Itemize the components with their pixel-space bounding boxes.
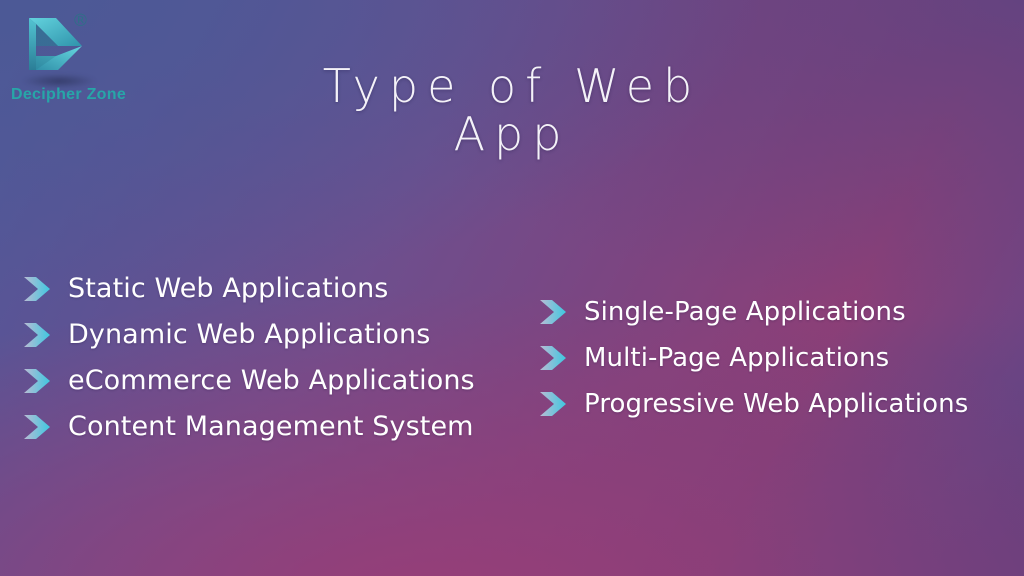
list-item: Static Web Applications bbox=[22, 266, 475, 312]
list-item: Progressive Web Applications bbox=[538, 381, 968, 427]
list-item: Content Management System bbox=[22, 404, 475, 450]
chevron-right-icon bbox=[22, 367, 52, 395]
list-item-label: Single-Page Applications bbox=[584, 297, 906, 327]
brand-wordmark: Decipher Zone bbox=[11, 86, 126, 104]
registered-trademark-icon: ® bbox=[72, 13, 89, 30]
web-app-type-list-right: Single-Page Applications Multi-Page Appl… bbox=[538, 289, 968, 427]
chevron-right-icon bbox=[538, 344, 568, 372]
chevron-right-icon bbox=[538, 390, 568, 418]
list-item: Multi-Page Applications bbox=[538, 335, 968, 381]
brand-logo-block: ® Decipher Zone bbox=[8, 8, 128, 108]
page-title-line2: App bbox=[262, 110, 762, 158]
chevron-right-icon bbox=[22, 275, 52, 303]
list-item-label: eCommerce Web Applications bbox=[68, 366, 475, 396]
page-title-line1: Type of Web bbox=[262, 62, 762, 110]
page-title: Type of Web App bbox=[262, 62, 762, 158]
chevron-right-icon bbox=[22, 321, 52, 349]
list-item-label: Multi-Page Applications bbox=[584, 343, 889, 373]
list-item-label: Static Web Applications bbox=[68, 274, 388, 304]
list-item-label: Dynamic Web Applications bbox=[68, 320, 430, 350]
list-item-label: Content Management System bbox=[68, 412, 474, 442]
chevron-right-icon bbox=[22, 413, 52, 441]
slide-canvas: ® Decipher Zone Type of Web App Static W… bbox=[0, 0, 1024, 576]
chevron-right-icon bbox=[538, 298, 568, 326]
list-item: Single-Page Applications bbox=[538, 289, 968, 335]
web-app-type-list-left: Static Web Applications Dynamic Web Appl… bbox=[22, 266, 475, 450]
list-item: eCommerce Web Applications bbox=[22, 358, 475, 404]
list-item: Dynamic Web Applications bbox=[22, 312, 475, 358]
list-item-label: Progressive Web Applications bbox=[584, 389, 968, 419]
